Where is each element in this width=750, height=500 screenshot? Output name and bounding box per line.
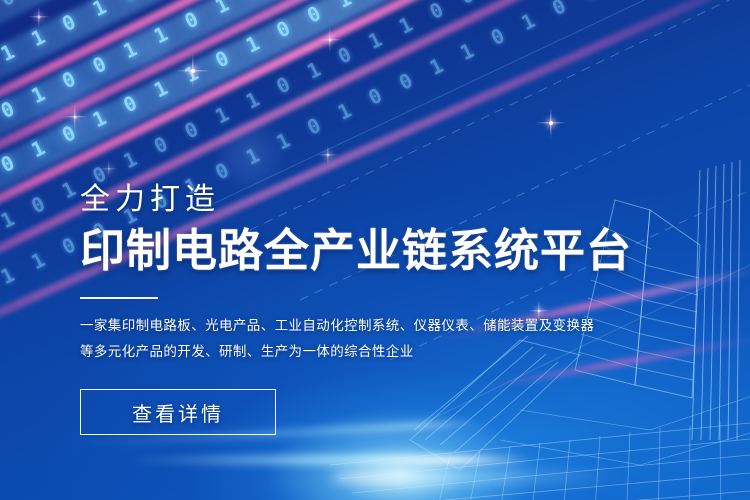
star-sparkle bbox=[100, 160, 118, 178]
hero-description: 一家集印制电路板、光电产品、工业自动化控制系统、仪器仪表、储能装置及变换器 等多… bbox=[80, 313, 600, 366]
hero-headline: 印制电路全产业链系统平台 bbox=[80, 227, 600, 275]
cyan-light-band bbox=[0, 0, 750, 88]
hero-description-line-1: 一家集印制电路板、光电产品、工业自动化控制系统、仪器仪表、储能装置及变换器 bbox=[80, 313, 600, 339]
star-sparkle bbox=[176, 54, 210, 88]
hero-content: 全力打造 印制电路全产业链系统平台 一家集印制电路板、光电产品、工业自动化控制系… bbox=[80, 185, 600, 435]
star-sparkle bbox=[62, 104, 88, 130]
view-details-button-label: 查看详情 bbox=[132, 398, 224, 427]
divider bbox=[80, 297, 158, 299]
binary-stream: 1 1 0 1 0 1 0 0 1 1 0 1 0 1 1 0 0 1 0 1 … bbox=[0, 0, 750, 185]
bokeh-blob bbox=[120, 20, 175, 75]
star-sparkle bbox=[318, 28, 342, 52]
horizon-streak bbox=[120, 455, 540, 465]
binary-stream: 0 1 0 0 1 1 0 1 0 0 1 0 1 1 0 0 1 0 1 0 … bbox=[0, 0, 750, 128]
horizon-streak bbox=[330, 470, 630, 484]
cyan-light-band bbox=[0, 0, 750, 200]
cyan-light-band bbox=[0, 0, 750, 143]
bokeh-blob bbox=[30, 70, 110, 150]
view-details-button[interactable]: 查看详情 bbox=[80, 389, 276, 435]
hero-banner: 1 0 1 1 0 0 1 0 1 1 0 1 0 0 1 1 0 1 1 0 … bbox=[0, 0, 750, 500]
star-sparkle bbox=[318, 145, 338, 165]
hero-eyebrow: 全力打造 bbox=[80, 185, 600, 215]
binary-stream: 1 0 1 1 0 0 1 0 1 1 0 1 0 0 1 1 0 1 1 0 … bbox=[0, 0, 750, 73]
magenta-light-trail bbox=[0, 0, 750, 165]
hero-description-line-2: 等多元化产品的开发、研制、生产为一体的综合性企业 bbox=[80, 339, 600, 365]
star-sparkle bbox=[28, 6, 50, 28]
bokeh-blob bbox=[215, 120, 285, 190]
star-sparkle bbox=[536, 108, 566, 138]
